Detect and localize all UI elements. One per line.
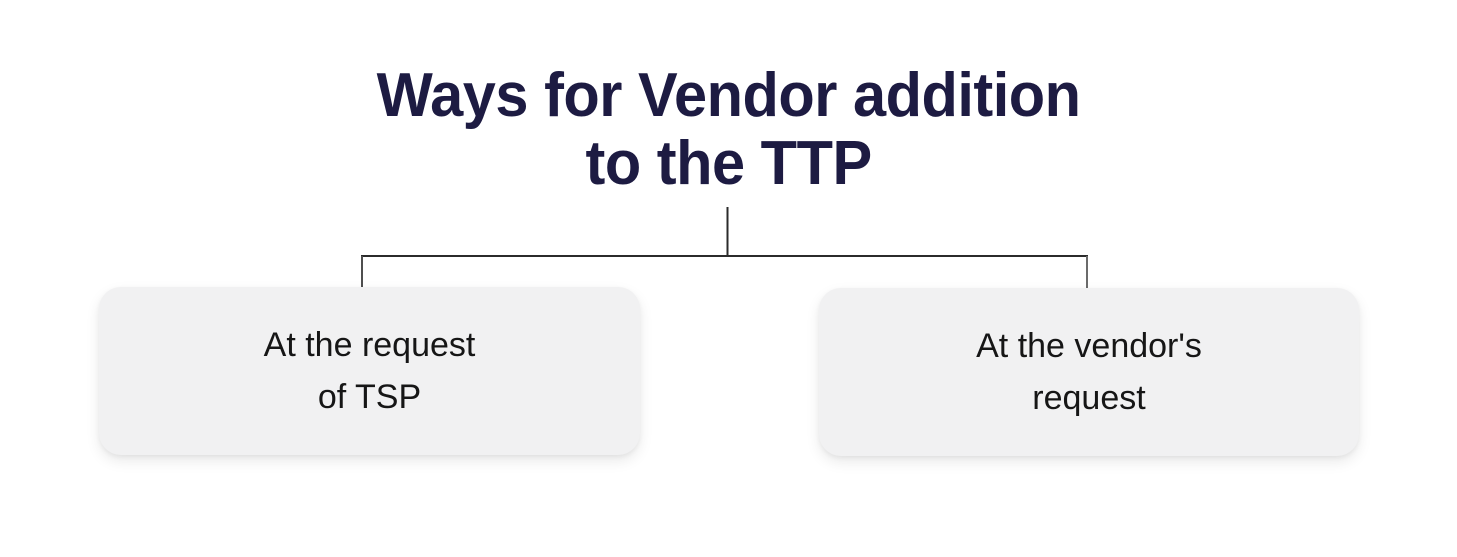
diagram-canvas: Ways for Vendor addition to the TTP At t… bbox=[0, 0, 1457, 557]
node-tsp-request-label: At the request of TSP bbox=[246, 319, 494, 423]
node-vendor-request-label: At the vendor's request bbox=[958, 320, 1220, 424]
page-title: Ways for Vendor addition to the TTP bbox=[29, 62, 1428, 198]
node-tsp-request[interactable]: At the request of TSP bbox=[99, 287, 640, 455]
node-vendor-request[interactable]: At the vendor's request bbox=[819, 288, 1359, 456]
